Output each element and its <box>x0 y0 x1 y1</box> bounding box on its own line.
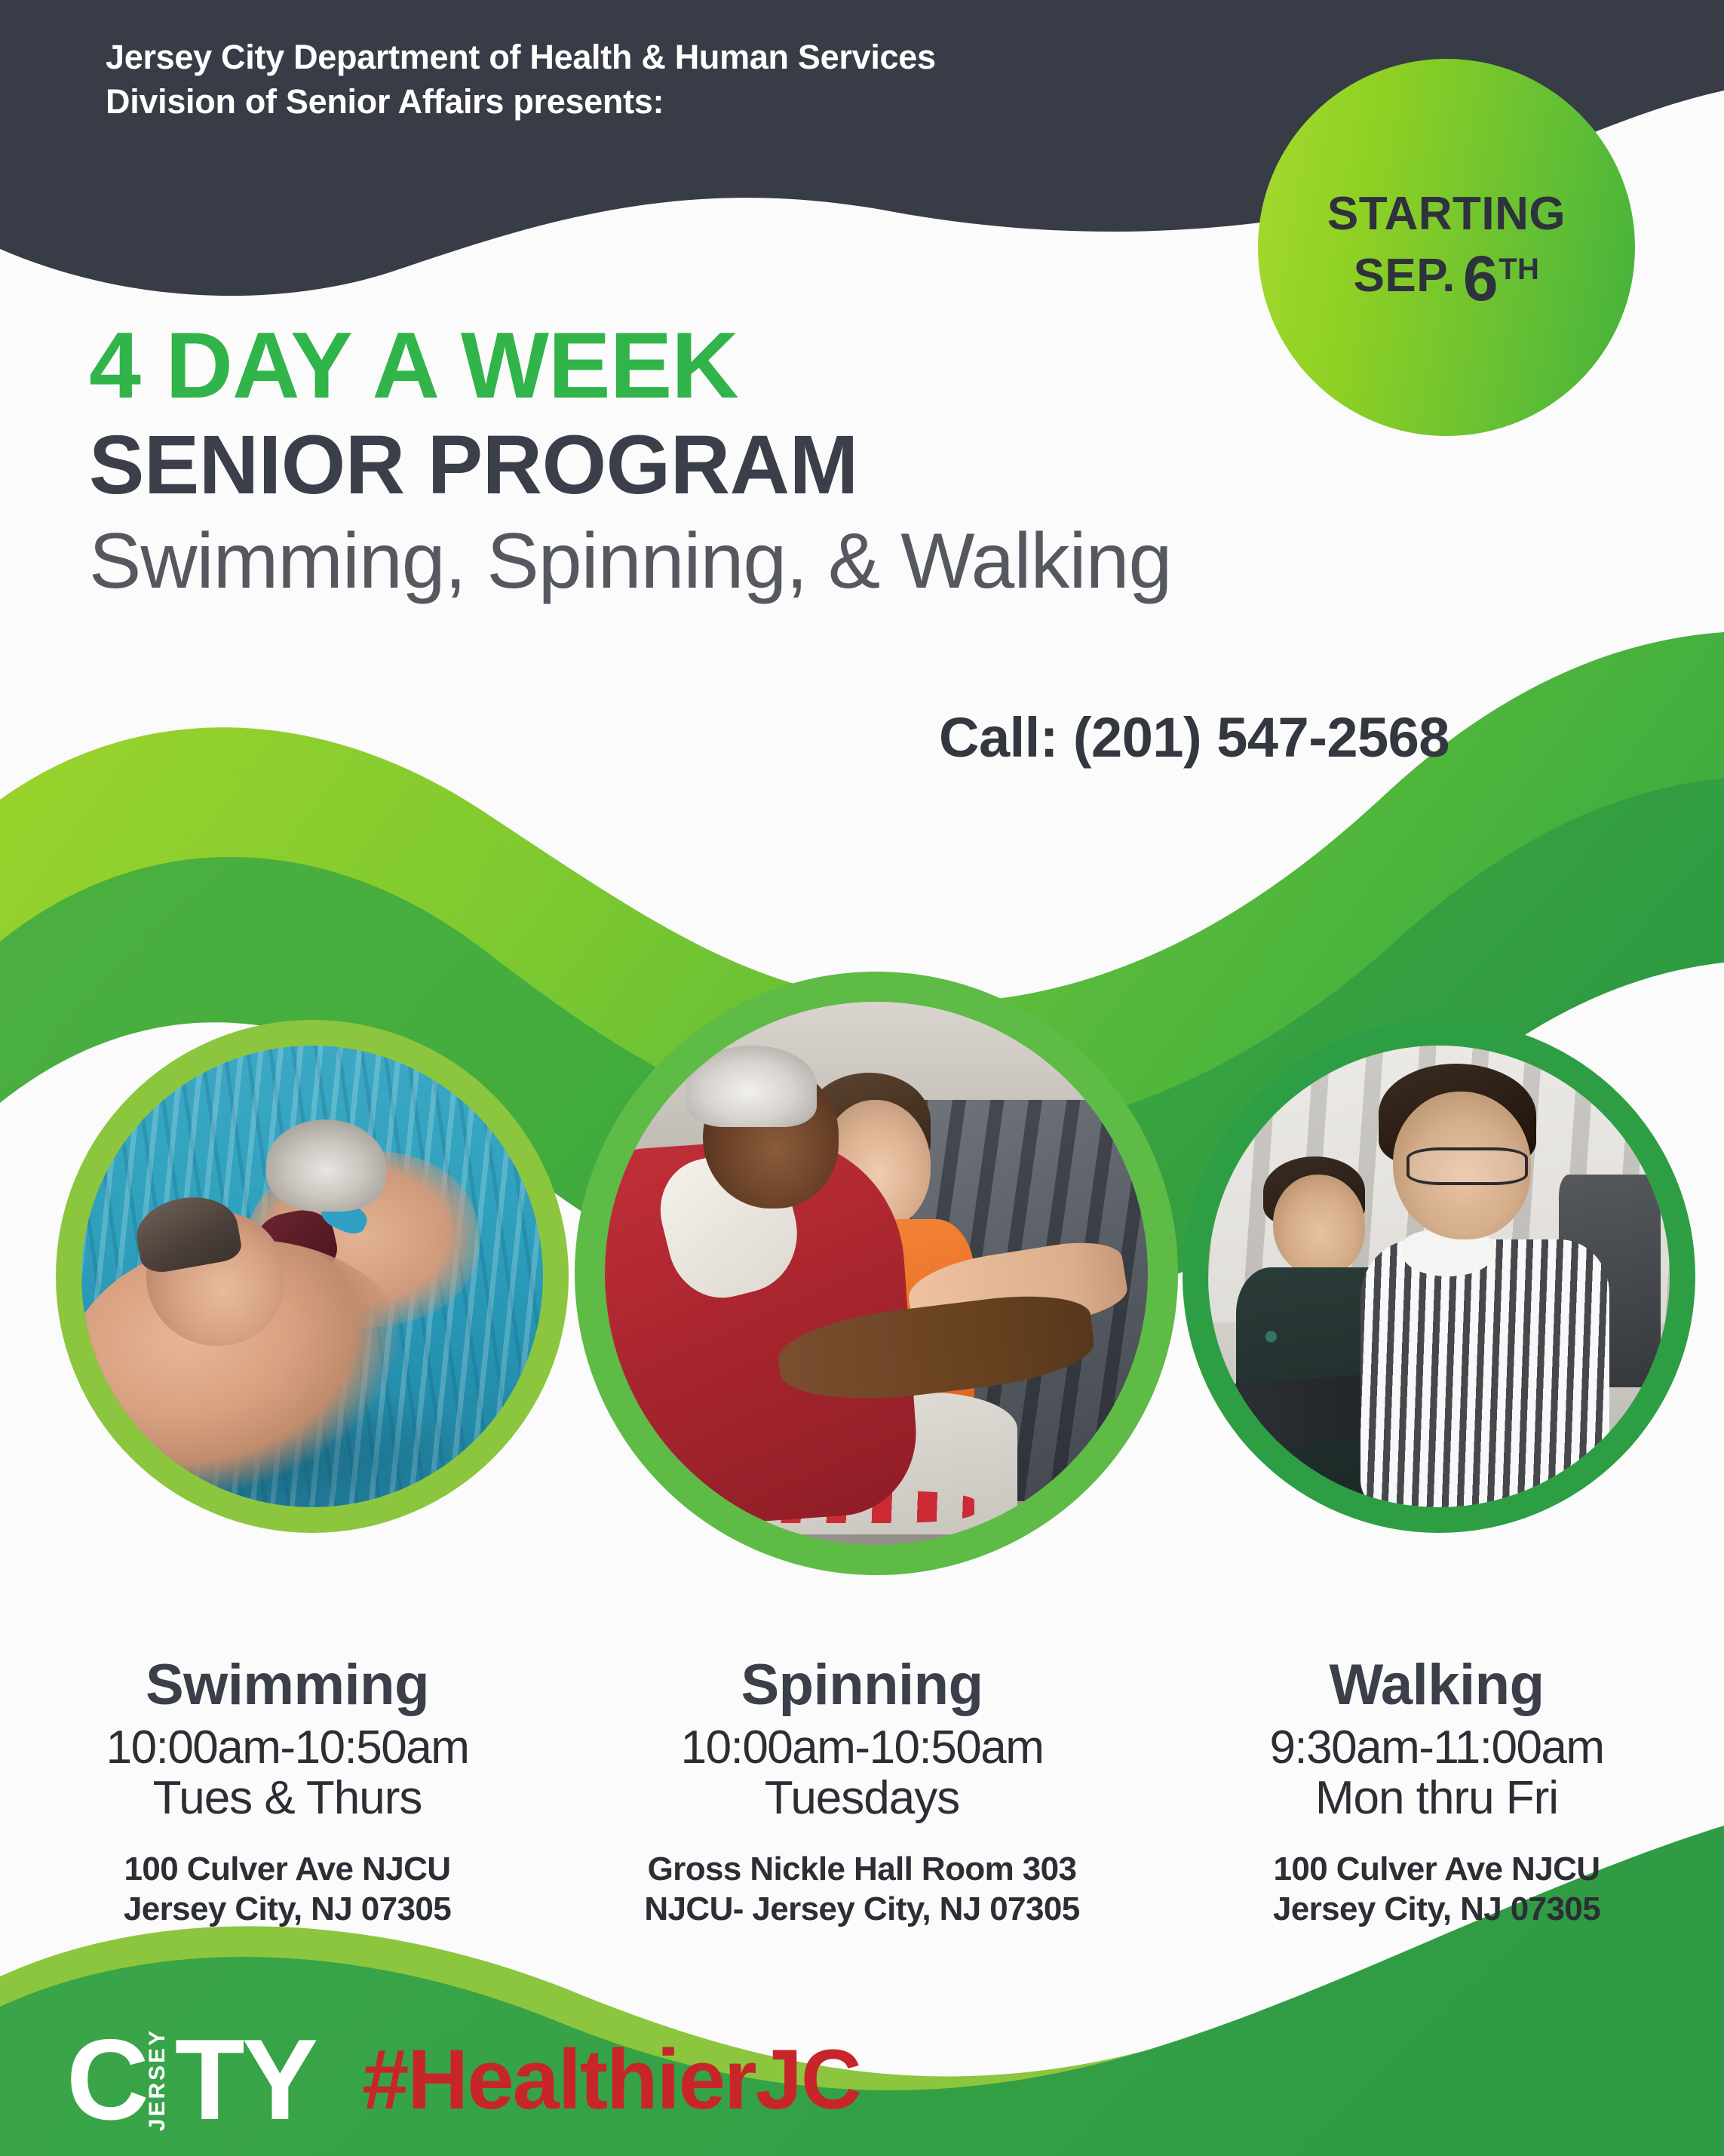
program-days: Tues & Thurs <box>6 1774 569 1823</box>
program-days: Mon thru Fri <box>1155 1774 1718 1823</box>
department-line-1: Jersey City Department of Health & Human… <box>106 35 936 79</box>
badge-day-number: 6 <box>1463 253 1499 305</box>
program-time: 10:00am-10:50am <box>6 1723 569 1774</box>
program-address-line-2: Jersey City, NJ 07305 <box>1155 1889 1718 1930</box>
gym-scene <box>605 1002 1148 1545</box>
title-line-frequency: 4 DAY A WEEK <box>89 317 1171 416</box>
phone-number[interactable]: Call: (201) 547-2568 <box>939 705 1449 769</box>
program-column-walking: Walking 9:30am-11:00am Mon thru Fri 100 … <box>1149 1657 1724 1930</box>
gym-scene-two <box>1208 1046 1670 1507</box>
program-address: 100 Culver Ave NJCU Jersey City, NJ 0730… <box>1155 1849 1718 1930</box>
photo-ring-spinning <box>575 972 1178 1575</box>
photo-swimming <box>81 1046 543 1507</box>
badge-day-ordinal: TH <box>1499 254 1539 284</box>
program-time: 9:30am-11:00am <box>1155 1723 1718 1774</box>
badge-line-2: SEP. 6 TH <box>1354 253 1540 305</box>
title-line-activities: Swimming, Spinning, & Walking <box>89 517 1171 607</box>
program-column-swimming: Swimming 10:00am-10:50am Tues & Thurs 10… <box>0 1657 575 1930</box>
program-name: Spinning <box>581 1657 1143 1714</box>
logo-jersey-vertical-wrap: JERSEY <box>142 2023 173 2136</box>
photo-ring-walking <box>1183 1020 1695 1533</box>
program-days: Tuesdays <box>581 1774 1143 1823</box>
title-line-program: SENIOR PROGRAM <box>89 419 1171 511</box>
flyer-page: Jersey City Department of Health & Human… <box>0 0 1724 2156</box>
first-woman-striped-top <box>1360 1239 1609 1507</box>
swimmer-background-hair <box>266 1119 386 1212</box>
program-address-line-1: 100 Culver Ave NJCU <box>6 1849 569 1890</box>
program-address-line-1: 100 Culver Ave NJCU <box>1155 1849 1718 1890</box>
program-address: 100 Culver Ave NJCU Jersey City, NJ 0730… <box>6 1849 569 1930</box>
photo-spinning <box>605 1002 1148 1545</box>
logo-jersey-text: JERSEY <box>145 2029 170 2131</box>
first-woman-glasses <box>1407 1147 1528 1186</box>
photo-ring-swimming <box>56 1020 569 1533</box>
program-name: Walking <box>1155 1657 1718 1714</box>
pool-scene <box>81 1046 543 1507</box>
program-name: Swimming <box>6 1657 569 1714</box>
program-address-line-2: NJCU- Jersey City, NJ 07305 <box>581 1889 1143 1930</box>
badge-line-1: STARTING <box>1327 191 1566 238</box>
department-line-2: Division of Senior Affairs presents: <box>106 79 936 124</box>
program-address-line-2: Jersey City, NJ 07305 <box>6 1889 569 1930</box>
program-address-line-1: Gross Nickle Hall Room 303 <box>581 1849 1143 1890</box>
jersey-city-logo: C JERSEY TY <box>66 2023 315 2136</box>
badge-month: SEP. <box>1354 253 1456 299</box>
program-columns: Swimming 10:00am-10:50am Tues & Thurs 10… <box>0 1657 1724 1930</box>
logo-letter-c: C <box>66 2033 146 2127</box>
second-woman-head <box>1273 1175 1365 1276</box>
program-column-spinning: Spinning 10:00am-10:50am Tuesdays Gross … <box>575 1657 1149 1930</box>
starting-date-badge: STARTING SEP. 6 TH <box>1258 59 1635 436</box>
main-title-block: 4 DAY A WEEK SENIOR PROGRAM Swimming, Sp… <box>89 317 1171 606</box>
hashtag-healthierjc: #HealthierJC <box>362 2038 860 2122</box>
senior-man-hair <box>686 1046 817 1127</box>
photo-walking <box>1208 1046 1670 1507</box>
program-time: 10:00am-10:50am <box>581 1723 1143 1774</box>
footer-row: C JERSEY TY #HealthierJC <box>66 2023 860 2136</box>
logo-letters-ty: TY <box>175 2033 315 2127</box>
department-header: Jersey City Department of Health & Human… <box>106 35 936 124</box>
program-address: Gross Nickle Hall Room 303 NJCU- Jersey … <box>581 1849 1143 1930</box>
